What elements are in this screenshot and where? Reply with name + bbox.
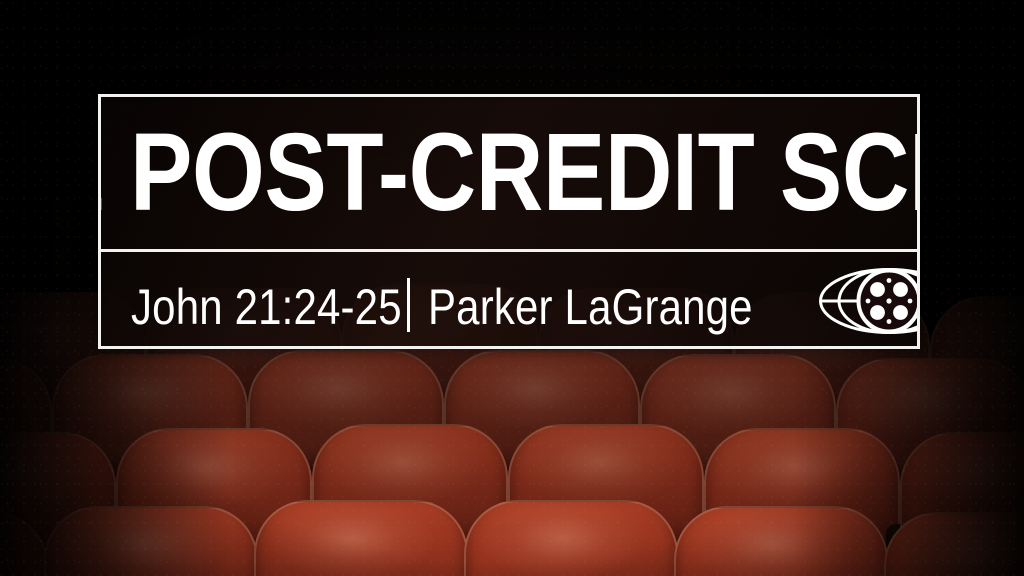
page-title: THE POST-CREDIT SCENE — [101, 118, 917, 228]
theater-seat — [44, 506, 258, 576]
theater-seat — [884, 512, 1024, 576]
subtitle-row: John 21:24-25 Parker LaGrange — [101, 252, 917, 349]
scripture-reference: John 21:24-25 — [131, 282, 402, 332]
title-row: THE POST-CREDIT SCENE — [101, 97, 917, 249]
theater-seat — [254, 500, 468, 576]
title-card-inner: THE POST-CREDIT SCENE John 21:24-25 Park… — [101, 97, 917, 346]
theater-seat — [464, 500, 678, 576]
theater-seat — [0, 512, 48, 576]
globe-film-reel-logo-icon — [815, 261, 917, 341]
title-slide: THE POST-CREDIT SCENE John 21:24-25 Park… — [0, 0, 1024, 576]
subtitle-separator — [407, 278, 410, 332]
title-card-frame: THE POST-CREDIT SCENE John 21:24-25 Park… — [98, 94, 920, 349]
speaker-name: Parker LaGrange — [428, 282, 753, 332]
theater-seat — [674, 506, 888, 576]
subtitle-group: John 21:24-25 Parker LaGrange — [131, 270, 815, 332]
